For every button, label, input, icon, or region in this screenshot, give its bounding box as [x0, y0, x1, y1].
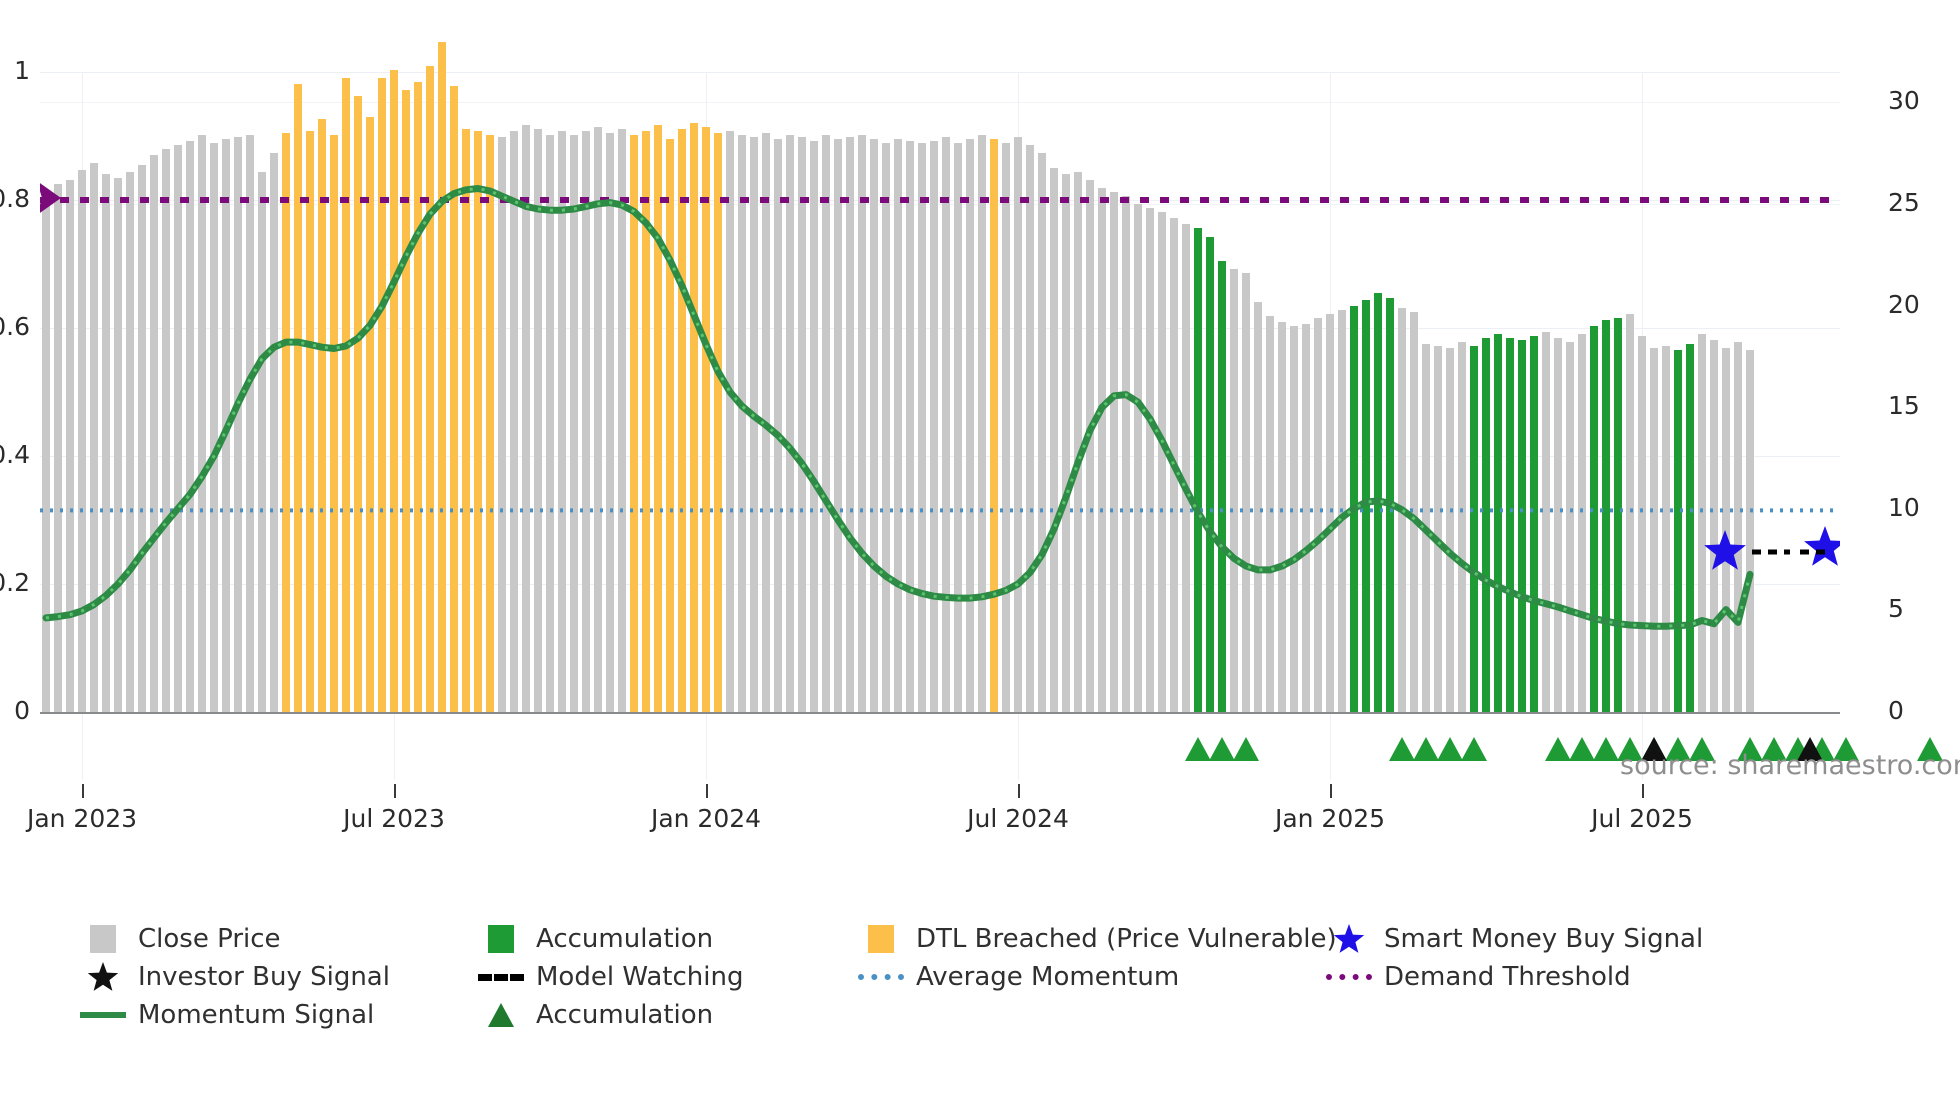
dotted-line-icon: [1326, 974, 1372, 980]
bar-close-price: [786, 135, 793, 712]
bar-close-price: [198, 135, 205, 712]
legend-item[interactable]: Investor Buy Signal: [80, 960, 478, 994]
y-axis-right-label: 15: [1888, 391, 1960, 420]
legend-dotted-icon: [1326, 974, 1372, 980]
bar-close-price: [1746, 350, 1753, 712]
y-axis-right-label: 20: [1888, 290, 1960, 319]
bar-dtl-breached: [654, 125, 661, 712]
bar-dtl-breached: [438, 42, 445, 712]
y-axis-right-label: 10: [1888, 493, 1960, 522]
square-icon: [488, 925, 514, 953]
accumulation-triangle-marker: [1545, 737, 1571, 761]
bar-close-price: [498, 137, 505, 712]
bar-close-price: [558, 131, 565, 712]
y-axis-left-label: 0.4: [0, 440, 30, 469]
bar-dtl-breached: [330, 135, 337, 712]
bar-close-price: [594, 127, 601, 712]
bar-close-price: [174, 145, 181, 712]
bar-accumulation: [1386, 298, 1393, 712]
bar-close-price: [1638, 336, 1645, 712]
bar-dtl-breached: [630, 135, 637, 712]
bar-close-price: [918, 143, 925, 712]
bar-close-price: [1062, 174, 1069, 712]
accumulation-triangle-marker: [1389, 737, 1415, 761]
legend-item[interactable]: Accumulation: [478, 924, 858, 954]
legend-star-icon: [1326, 922, 1372, 956]
bar-close-price: [234, 137, 241, 712]
bar-dtl-breached: [678, 129, 685, 712]
bar-dtl-breached: [666, 139, 673, 712]
bar-close-price: [150, 155, 157, 712]
bar-close-price: [1338, 310, 1345, 712]
legend-item[interactable]: Average Momentum: [858, 962, 1326, 992]
bar-close-price: [1698, 334, 1705, 712]
x-axis-tick: [1018, 784, 1020, 798]
star-icon: [1332, 922, 1366, 956]
chart-canvas: 00.20.40.60.81 051015202530 Jan 2023Jul …: [0, 0, 1960, 1102]
bar-dtl-breached: [402, 90, 409, 712]
bar-close-price: [798, 137, 805, 712]
bar-close-price: [1458, 342, 1465, 712]
legend-label: Close Price: [138, 924, 281, 954]
bar-close-price: [834, 139, 841, 712]
accumulation-triangle-marker: [1569, 737, 1595, 761]
bar-accumulation: [1218, 261, 1225, 712]
y-axis-right-label: 30: [1888, 86, 1960, 115]
bar-accumulation: [1686, 344, 1693, 712]
bar-close-price: [1626, 314, 1633, 712]
bar-close-price: [858, 135, 865, 712]
accumulation-triangle-marker: [1233, 737, 1259, 761]
bar-dtl-breached: [462, 129, 469, 712]
bar-close-price: [930, 141, 937, 712]
smart-money-buy-signal-star: [1804, 526, 1840, 566]
bar-dtl-breached: [366, 117, 373, 712]
bar-close-price: [90, 163, 97, 712]
bar-dtl-breached: [378, 78, 385, 712]
bar-accumulation: [1470, 346, 1477, 712]
bar-close-price: [126, 172, 133, 712]
legend-label: Smart Money Buy Signal: [1384, 924, 1703, 954]
legend-square-icon: [80, 925, 126, 953]
legend-item[interactable]: Smart Money Buy Signal: [1326, 922, 1703, 956]
x-axis-tick: [1642, 784, 1644, 798]
bar-dtl-breached: [426, 66, 433, 712]
bar-close-price: [510, 131, 517, 712]
y-axis-left-label: 0.6: [0, 312, 30, 341]
bar-close-price: [582, 131, 589, 712]
accumulation-triangle-marker: [1413, 737, 1439, 761]
bar-dtl-breached: [414, 82, 421, 712]
bar-close-price: [1170, 218, 1177, 712]
square-icon: [868, 925, 894, 953]
bar-close-price: [522, 125, 529, 712]
bar-accumulation: [1494, 334, 1501, 712]
y-axis-right-label: 0: [1888, 696, 1960, 725]
legend-star-icon: [80, 960, 126, 994]
bar-dtl-breached: [690, 123, 697, 712]
bar-close-price: [1014, 137, 1021, 712]
bar-dtl-breached: [318, 119, 325, 712]
bar-accumulation: [1482, 338, 1489, 712]
y-axis-right-label: 25: [1888, 188, 1960, 217]
y-axis-left-label: 1: [0, 56, 30, 85]
bar-accumulation: [1530, 336, 1537, 712]
bar-close-price: [246, 135, 253, 712]
bar-close-price: [1566, 342, 1573, 712]
bar-dtl-breached: [642, 131, 649, 712]
bar-close-price: [1422, 344, 1429, 712]
bar-close-price: [726, 131, 733, 712]
bar-close-price: [546, 135, 553, 712]
bar-close-price: [906, 141, 913, 712]
bar-close-price: [810, 141, 817, 712]
bar-close-price: [1026, 145, 1033, 712]
chart-legend: Close PriceAccumulationDTL Breached (Pri…: [80, 920, 1940, 1034]
bar-dtl-breached: [990, 139, 997, 712]
bar-close-price: [54, 184, 61, 712]
plot-area: 00.20.40.60.81 051015202530 Jan 2023Jul …: [40, 72, 1840, 712]
bar-dtl-breached: [294, 84, 301, 712]
bar-close-price: [102, 174, 109, 712]
bar-accumulation: [1350, 306, 1357, 712]
legend-label: Demand Threshold: [1384, 962, 1631, 992]
legend-label: Investor Buy Signal: [138, 962, 390, 992]
legend-row: Close PriceAccumulationDTL Breached (Pri…: [80, 920, 1940, 958]
legend-item[interactable]: Model Watching: [478, 962, 858, 992]
square-icon: [90, 925, 116, 953]
bar-close-price: [822, 135, 829, 712]
bar-close-price: [1734, 342, 1741, 712]
bar-close-price: [762, 133, 769, 712]
bar-close-price: [882, 143, 889, 712]
legend-square-icon: [858, 925, 904, 953]
bar-close-price: [270, 153, 277, 712]
bar-dtl-breached: [450, 86, 457, 712]
bar-close-price: [42, 194, 49, 712]
bar-close-price: [750, 137, 757, 712]
bar-close-price: [1290, 326, 1297, 712]
bar-close-price: [1242, 273, 1249, 712]
legend-item[interactable]: Close Price: [80, 924, 478, 954]
bar-close-price: [1182, 224, 1189, 712]
y-axis-right-label: 5: [1888, 594, 1960, 623]
bar-close-price: [1050, 168, 1057, 713]
bar-close-price: [1122, 196, 1129, 712]
bar-close-price: [966, 139, 973, 712]
dotted-line-icon: [858, 974, 904, 980]
bar-close-price: [1134, 204, 1141, 712]
bar-close-price: [1110, 192, 1117, 712]
x-axis-line: [40, 712, 1840, 714]
bar-close-price: [1230, 269, 1237, 712]
bar-close-price: [1278, 322, 1285, 712]
bar-dtl-breached: [714, 133, 721, 712]
bar-close-price: [942, 137, 949, 712]
accumulation-triangle-marker: [1185, 737, 1211, 761]
legend-triangle-icon: [478, 1003, 524, 1027]
legend-label: Accumulation: [536, 1000, 713, 1030]
legend-item[interactable]: Accumulation: [478, 1000, 858, 1030]
legend-item[interactable]: Demand Threshold: [1326, 962, 1631, 992]
source-watermark: source: sharemaestro.com: [1620, 750, 1960, 781]
bar-close-price: [1578, 334, 1585, 712]
legend-row: Investor Buy SignalModel WatchingAverage…: [80, 958, 1940, 996]
bar-close-price: [1410, 312, 1417, 712]
bar-dtl-breached: [282, 133, 289, 712]
bar-close-price: [846, 137, 853, 712]
bar-close-price: [162, 149, 169, 712]
x-axis-tick: [82, 784, 84, 798]
bar-close-price: [1074, 172, 1081, 712]
x-axis-label: Jan 2023: [27, 804, 137, 833]
bar-accumulation: [1194, 228, 1201, 712]
bar-close-price: [534, 129, 541, 712]
legend-label: Momentum Signal: [138, 1000, 374, 1030]
triangle-icon: [488, 1003, 514, 1027]
bar-close-price: [1098, 188, 1105, 712]
x-axis-label: Jul 2025: [1591, 804, 1693, 833]
bar-accumulation: [1506, 338, 1513, 712]
bar-dtl-breached: [342, 78, 349, 712]
bar-close-price: [1446, 348, 1453, 712]
x-axis-tick: [394, 784, 396, 798]
accumulation-triangle-marker: [1437, 737, 1463, 761]
dash-icon: [478, 974, 524, 981]
bar-dtl-breached: [702, 127, 709, 712]
bar-close-price: [978, 135, 985, 712]
bar-close-price: [1554, 338, 1561, 712]
bar-close-price: [738, 135, 745, 712]
bar-close-price: [570, 135, 577, 712]
bar-accumulation: [1362, 300, 1369, 712]
bar-close-price: [1722, 348, 1729, 712]
bar-accumulation: [1590, 326, 1597, 712]
bar-close-price: [258, 172, 265, 712]
gridline: [40, 72, 1840, 73]
bar-close-price: [618, 129, 625, 712]
bar-close-price: [210, 143, 217, 712]
bar-close-price: [222, 139, 229, 712]
x-axis-label: Jul 2023: [343, 804, 445, 833]
bar-accumulation: [1674, 350, 1681, 712]
bar-close-price: [1398, 308, 1405, 712]
bar-close-price: [1314, 318, 1321, 712]
accumulation-triangle-marker: [1461, 737, 1487, 761]
bar-accumulation: [1206, 237, 1213, 712]
bar-dtl-breached: [354, 96, 361, 712]
x-axis-label: Jan 2025: [1275, 804, 1385, 833]
bar-dtl-breached: [486, 135, 493, 712]
gridline-right: [40, 102, 1840, 103]
bar-close-price: [1266, 316, 1273, 712]
legend-item[interactable]: Momentum Signal: [80, 1000, 478, 1030]
bar-close-price: [774, 139, 781, 712]
bar-dtl-breached: [306, 131, 313, 712]
legend-dash-icon: [478, 974, 524, 981]
bar-accumulation: [1614, 318, 1621, 712]
bar-close-price: [1650, 348, 1657, 712]
legend-label: Average Momentum: [916, 962, 1179, 992]
bar-close-price: [1086, 180, 1093, 712]
bar-close-price: [606, 133, 613, 712]
bar-close-price: [114, 178, 121, 712]
bar-accumulation: [1602, 320, 1609, 712]
bar-close-price: [78, 170, 85, 712]
x-axis-tick: [1330, 784, 1332, 798]
bar-close-price: [1662, 346, 1669, 712]
x-axis-label: Jan 2024: [651, 804, 761, 833]
star-icon: [86, 960, 120, 994]
bar-close-price: [1434, 346, 1441, 712]
legend-square-icon: [478, 925, 524, 953]
accumulation-triangle-marker: [1209, 737, 1235, 761]
y-axis-left-label: 0.8: [0, 184, 30, 213]
legend-label: DTL Breached (Price Vulnerable): [916, 924, 1337, 954]
bar-close-price: [1326, 314, 1333, 712]
bar-close-price: [186, 141, 193, 712]
bar-accumulation: [1374, 293, 1381, 712]
bar-close-price: [954, 143, 961, 712]
bar-close-price: [1038, 153, 1045, 712]
legend-item[interactable]: DTL Breached (Price Vulnerable): [858, 924, 1326, 954]
bar-dtl-breached: [474, 131, 481, 712]
bar-dtl-breached: [390, 70, 397, 712]
bar-close-price: [1254, 302, 1261, 712]
x-axis-label: Jul 2024: [967, 804, 1069, 833]
bar-close-price: [894, 139, 901, 712]
y-axis-left-label: 0.2: [0, 568, 30, 597]
accumulation-triangle-marker: [1593, 737, 1619, 761]
bar-close-price: [1002, 143, 1009, 712]
y-axis-left-label: 0: [0, 696, 30, 725]
bar-close-price: [870, 139, 877, 712]
bar-close-price: [1158, 212, 1165, 712]
bar-close-price: [1146, 208, 1153, 712]
bar-close-price: [1542, 332, 1549, 712]
legend-row: Momentum SignalAccumulation: [80, 996, 1940, 1034]
bar-close-price: [1302, 324, 1309, 712]
legend-line-icon: [80, 1012, 126, 1018]
line-icon: [80, 1012, 126, 1018]
bar-close-price: [1710, 340, 1717, 712]
bar-close-price: [138, 165, 145, 712]
bar-accumulation: [1518, 340, 1525, 712]
legend-label: Accumulation: [536, 924, 713, 954]
legend-dotted-icon: [858, 974, 904, 980]
legend-label: Model Watching: [536, 962, 743, 992]
bar-close-price: [66, 180, 73, 712]
x-axis-tick: [706, 784, 708, 798]
